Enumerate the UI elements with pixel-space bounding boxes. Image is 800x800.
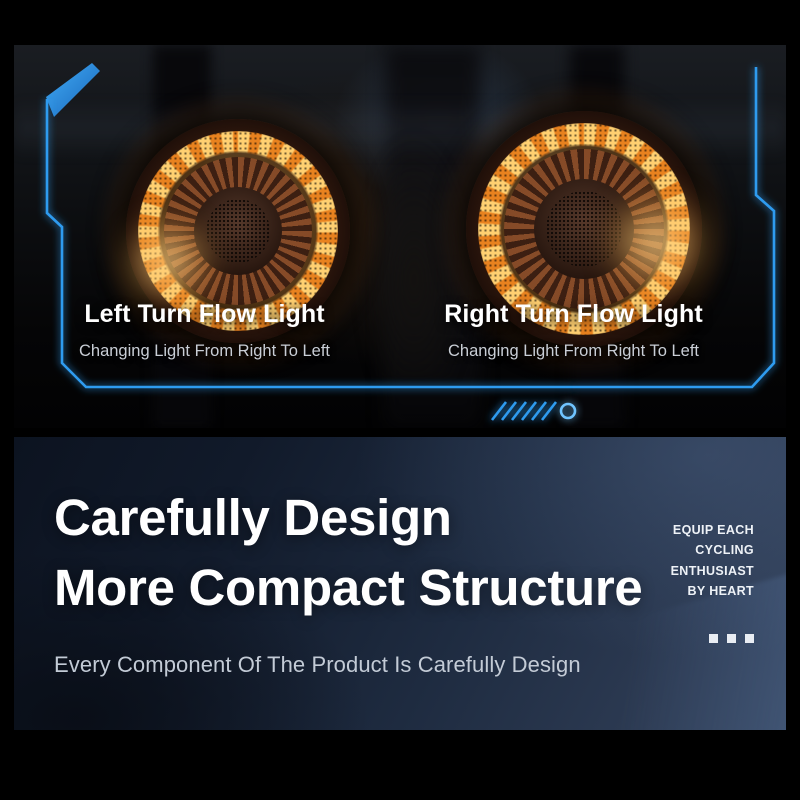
right-lamp-hotspot (602, 189, 712, 297)
dot-2 (727, 634, 736, 643)
caption-left-title: Left Turn Flow Light (20, 300, 389, 329)
caption-row: Left Turn Flow Light Changing Light From… (14, 300, 786, 361)
caption-left-turn: Left Turn Flow Light Changing Light From… (14, 300, 389, 361)
ellipsis-dots (709, 634, 754, 643)
caption-right-turn: Right Turn Flow Light Changing Light Fro… (389, 300, 786, 361)
promo-panel: Carefully Design More Compact Structure … (14, 437, 786, 730)
dot-1 (709, 634, 718, 643)
tagline-line-1: EQUIP EACH (671, 520, 754, 540)
left-lamp-hotspot (120, 215, 216, 307)
promo-tagline: EQUIP EACH CYCLING ENTHUSIAST BY HEART (671, 520, 754, 601)
tagline-line-4: BY HEART (671, 581, 754, 601)
promo-subline: Every Component Of The Product Is Carefu… (54, 652, 786, 678)
caption-right-title: Right Turn Flow Light (389, 300, 758, 329)
product-marketing-page: Left Turn Flow Light Changing Light From… (0, 0, 800, 800)
caption-right-subtitle: Changing Light From Right To Left (389, 342, 758, 361)
tagline-line-3: ENTHUSIAST (671, 561, 754, 581)
tagline-line-2: CYCLING (671, 540, 754, 560)
caption-left-subtitle: Changing Light From Right To Left (20, 342, 389, 361)
dot-3 (745, 634, 754, 643)
hero-panel: Left Turn Flow Light Changing Light From… (14, 45, 786, 428)
